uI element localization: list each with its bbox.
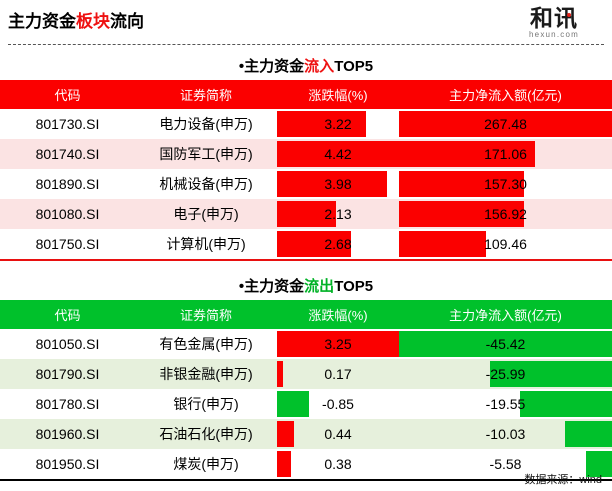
cell-code: 801050.SI xyxy=(0,329,135,359)
net-inflow-value: -19.55 xyxy=(399,389,612,419)
table-header-row: 代码 证券简称 涨跌幅(%) 主力净流入额(亿元) xyxy=(0,80,612,109)
col-header-net: 主力净流入额(亿元) xyxy=(399,300,612,329)
outflow-table: 代码 证券简称 涨跌幅(%) 主力净流入额(亿元) 801050.SI有色金属(… xyxy=(0,300,612,481)
cell-net-inflow: 171.06 xyxy=(399,139,612,169)
col-header-code: 代码 xyxy=(0,300,135,329)
cell-code: 801750.SI xyxy=(0,229,135,260)
net-inflow-value: -5.58 xyxy=(399,449,612,479)
cell-code: 801740.SI xyxy=(0,139,135,169)
cell-change-pct: 0.17 xyxy=(277,359,399,389)
col-header-code: 代码 xyxy=(0,80,135,109)
cell-change-pct: 3.22 xyxy=(277,109,399,139)
infographic-page: 主力资金板块流向 和讯 hexun.com •主力资金流入TOP5 代码 证券简… xyxy=(0,0,612,491)
outflow-title-highlight: 流出 xyxy=(304,278,334,295)
change-pct-value: 2.68 xyxy=(277,229,399,259)
cell-net-inflow: 157.30 xyxy=(399,169,612,199)
cell-change-pct: 3.25 xyxy=(277,329,399,359)
logo-mark-text: 和讯 xyxy=(530,5,578,31)
change-pct-value: 3.22 xyxy=(277,109,399,139)
cell-change-pct: 0.44 xyxy=(277,419,399,449)
cell-net-inflow: -19.55 xyxy=(399,389,612,419)
page-title-pre: 主力资金 xyxy=(8,12,76,31)
logo-wordmark: 和讯 xyxy=(506,6,602,30)
cell-code: 801790.SI xyxy=(0,359,135,389)
cell-change-pct: 3.98 xyxy=(277,169,399,199)
change-pct-value: 0.17 xyxy=(277,359,399,389)
cell-sector-name: 机械设备(申万) xyxy=(135,169,277,199)
net-inflow-value: 157.30 xyxy=(399,169,612,199)
cell-sector-name: 电力设备(申万) xyxy=(135,109,277,139)
logo-dot-icon xyxy=(567,13,571,17)
cell-net-inflow: 267.48 xyxy=(399,109,612,139)
page-title-highlight: 板块 xyxy=(76,12,110,31)
inflow-table: 代码 证券简称 涨跌幅(%) 主力净流入额(亿元) 801730.SI电力设备(… xyxy=(0,80,612,261)
change-pct-value: 0.38 xyxy=(277,449,399,479)
cell-change-pct: 2.68 xyxy=(277,229,399,260)
net-inflow-value: 171.06 xyxy=(399,139,612,169)
cell-net-inflow: -5.58 xyxy=(399,449,612,480)
cell-sector-name: 非银金融(申万) xyxy=(135,359,277,389)
cell-change-pct: -0.85 xyxy=(277,389,399,419)
page-title: 主力资金板块流向 xyxy=(8,7,144,32)
table-row: 801050.SI有色金属(申万)3.25-45.42 xyxy=(0,329,612,359)
table-row: 801750.SI计算机(申万)2.68109.46 xyxy=(0,229,612,260)
change-pct-value: 3.25 xyxy=(277,329,399,359)
cell-sector-name: 国防军工(申万) xyxy=(135,139,277,169)
col-header-name: 证券简称 xyxy=(135,300,277,329)
change-pct-value: 2.13 xyxy=(277,199,399,229)
inflow-title-post: TOP5 xyxy=(334,58,373,75)
inflow-title-pre: 主力资金 xyxy=(244,58,304,75)
net-inflow-value: -25.99 xyxy=(399,359,612,389)
change-pct-value: 4.42 xyxy=(277,139,399,169)
cell-sector-name: 银行(申万) xyxy=(135,389,277,419)
outflow-section-title: •主力资金流出TOP5 xyxy=(0,270,612,300)
cell-code: 801960.SI xyxy=(0,419,135,449)
net-inflow-value: 109.46 xyxy=(399,229,612,259)
cell-sector-name: 计算机(申万) xyxy=(135,229,277,260)
table-row: 801960.SI石油石化(申万)0.44-10.03 xyxy=(0,419,612,449)
table-header-row: 代码 证券简称 涨跌幅(%) 主力净流入额(亿元) xyxy=(0,300,612,329)
table-row: 801790.SI非银金融(申万)0.17-25.99 xyxy=(0,359,612,389)
section-outflow: •主力资金流出TOP5 代码 证券简称 涨跌幅(%) 主力净流入额(亿元) 80… xyxy=(0,270,612,481)
cell-code: 801890.SI xyxy=(0,169,135,199)
net-inflow-value: -45.42 xyxy=(399,329,612,359)
col-header-pct: 涨跌幅(%) xyxy=(277,80,399,109)
table-row: 801780.SI银行(申万)-0.85-19.55 xyxy=(0,389,612,419)
inflow-title-highlight: 流入 xyxy=(304,58,334,75)
col-header-net: 主力净流入额(亿元) xyxy=(399,80,612,109)
cell-net-inflow: -45.42 xyxy=(399,329,612,359)
header-dashed-divider xyxy=(8,44,604,45)
table-row: 801730.SI电力设备(申万)3.22267.48 xyxy=(0,109,612,139)
outflow-title-post: TOP5 xyxy=(334,278,373,295)
net-inflow-value: -10.03 xyxy=(399,419,612,449)
net-inflow-value: 267.48 xyxy=(399,109,612,139)
cell-change-pct: 2.13 xyxy=(277,199,399,229)
hexun-logo: 和讯 hexun.com xyxy=(506,6,602,40)
cell-change-pct: 0.38 xyxy=(277,449,399,480)
col-header-name: 证券简称 xyxy=(135,80,277,109)
cell-net-inflow: 156.92 xyxy=(399,199,612,229)
cell-code: 801780.SI xyxy=(0,389,135,419)
cell-net-inflow: -10.03 xyxy=(399,419,612,449)
outflow-title-pre: 主力资金 xyxy=(244,278,304,295)
inflow-section-title: •主力资金流入TOP5 xyxy=(0,50,612,80)
cell-change-pct: 4.42 xyxy=(277,139,399,169)
col-header-pct: 涨跌幅(%) xyxy=(277,300,399,329)
table-row: 801740.SI国防军工(申万)4.42171.06 xyxy=(0,139,612,169)
change-pct-value: 0.44 xyxy=(277,419,399,449)
cell-net-inflow: 109.46 xyxy=(399,229,612,260)
cell-sector-name: 石油石化(申万) xyxy=(135,419,277,449)
change-pct-value: -0.85 xyxy=(277,389,399,419)
change-pct-value: 3.98 xyxy=(277,169,399,199)
net-inflow-value: 156.92 xyxy=(399,199,612,229)
page-title-post: 流向 xyxy=(110,12,144,31)
table-row: 801890.SI机械设备(申万)3.98157.30 xyxy=(0,169,612,199)
page-header: 主力资金板块流向 和讯 hexun.com xyxy=(0,0,612,50)
cell-sector-name: 有色金属(申万) xyxy=(135,329,277,359)
logo-domain: hexun.com xyxy=(506,30,602,40)
cell-code: 801080.SI xyxy=(0,199,135,229)
table-row: 801080.SI电子(申万)2.13156.92 xyxy=(0,199,612,229)
section-divider xyxy=(0,261,612,270)
section-inflow: •主力资金流入TOP5 代码 证券简称 涨跌幅(%) 主力净流入额(亿元) 80… xyxy=(0,50,612,261)
cell-code: 801730.SI xyxy=(0,109,135,139)
cell-sector-name: 电子(申万) xyxy=(135,199,277,229)
cell-net-inflow: -25.99 xyxy=(399,359,612,389)
